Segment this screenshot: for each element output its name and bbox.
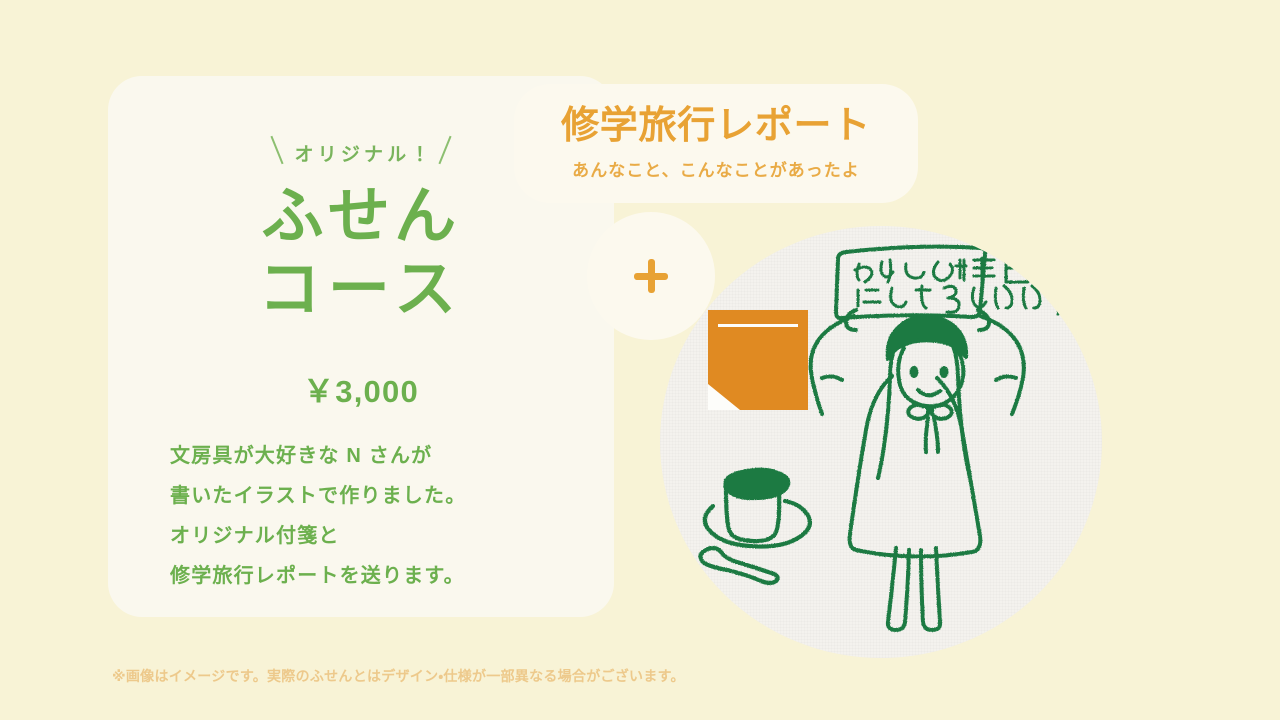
course-title-line2: コース xyxy=(108,253,614,326)
report-card: 修学旅行レポート あんなこと、こんなことがあったよ xyxy=(514,84,918,203)
poster-stage: オリジナル！ ふせん コース ￥3,000 文房具が大好きな N さんが 書いた… xyxy=(0,0,1280,720)
course-price: ￥3,000 xyxy=(108,366,614,411)
sign-text xyxy=(855,258,1067,314)
slash-left-icon xyxy=(271,136,284,165)
slash-right-icon xyxy=(438,136,451,165)
description-line: 文房具が大好きな N さんが xyxy=(170,436,570,476)
report-subtitle: あんなこと、こんなことがあったよ xyxy=(572,156,860,181)
girl-illustration xyxy=(811,247,1024,630)
disclaimer-text: ※画像はイメージです。実際のふせんとはデザイン・仕様が一部異なる場合がございます… xyxy=(112,666,685,686)
description-line: オリジナル付箋と xyxy=(170,516,570,556)
course-description: 文房具が大好きな N さんが 書いたイラストで作りました。 オリジナル付箋と 修… xyxy=(170,436,570,596)
report-title: 修学旅行レポート xyxy=(561,106,871,148)
description-line: 修学旅行レポートを送ります。 xyxy=(170,556,570,596)
orange-sticky-note-icon xyxy=(708,310,808,410)
course-kicker-label: オリジナル！ xyxy=(294,145,433,166)
pudding-icon xyxy=(700,470,809,583)
illustration-artwork xyxy=(660,226,1102,658)
illustration-circle xyxy=(660,226,1102,658)
course-title: ふせん コース xyxy=(108,180,614,326)
course-title-line1: ふせん xyxy=(261,182,460,251)
description-line: 書いたイラストで作りました。 xyxy=(170,476,570,516)
